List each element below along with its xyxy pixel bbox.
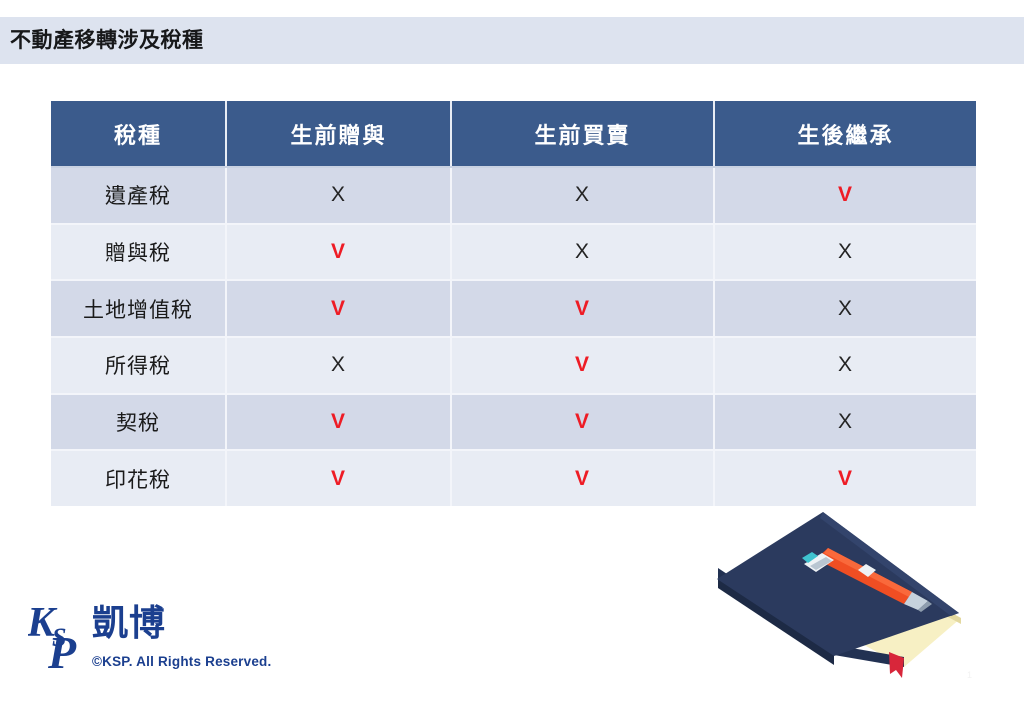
mark-x-icon: X xyxy=(331,183,346,206)
mark-v-icon: V xyxy=(331,467,346,490)
cell-mark: V xyxy=(226,394,451,451)
column-header-lifetime-gift: 生前贈與 xyxy=(226,101,451,167)
mark-v-icon: V xyxy=(331,297,346,320)
title-band: 不動產移轉涉及稅種 xyxy=(0,17,1024,64)
mark-x-icon: X xyxy=(838,297,853,320)
column-header-tax-type: 稅種 xyxy=(51,101,226,167)
copyright-text: ©KSP. All Rights Reserved. xyxy=(92,654,271,669)
column-header-inheritance: 生後繼承 xyxy=(714,101,976,167)
notebook-with-pen-icon xyxy=(706,500,976,690)
mark-v-icon: V xyxy=(575,297,590,320)
row-label-income-tax: 所得稅 xyxy=(51,337,226,394)
tax-comparison-table: 稅種 生前贈與 生前買賣 生後繼承 遺產稅 X X V 贈與稅 V X X 土地… xyxy=(51,101,976,506)
mark-x-icon: X xyxy=(838,240,853,263)
table-row: 遺產稅 X X V xyxy=(51,167,976,224)
brand-name-cn: 凱博 xyxy=(92,606,166,642)
cell-mark: X xyxy=(451,167,714,224)
table-body: 遺產稅 X X V 贈與稅 V X X 土地增值稅 V V X 所得稅 X V xyxy=(51,167,976,506)
row-label-estate-tax: 遺產稅 xyxy=(51,167,226,224)
mark-x-icon: X xyxy=(838,410,853,433)
mark-x-icon: X xyxy=(575,240,590,263)
cell-mark: V xyxy=(451,450,714,506)
mark-v-icon: V xyxy=(575,353,590,376)
table-row: 契稅 V V X xyxy=(51,394,976,451)
page-title: 不動產移轉涉及稅種 xyxy=(10,30,204,51)
cell-mark: V xyxy=(451,280,714,337)
mark-v-icon: V xyxy=(331,410,346,433)
mark-x-icon: X xyxy=(838,353,853,376)
ks-monogram-svg: K P S xyxy=(28,602,90,672)
cell-mark: V xyxy=(451,337,714,394)
slide-canvas: 不動產移轉涉及稅種 稅種 生前贈與 生前買賣 生後繼承 遺產稅 X X V 贈與… xyxy=(0,0,1024,706)
cell-mark: V xyxy=(226,450,451,506)
table-row: 贈與稅 V X X xyxy=(51,224,976,281)
cell-mark: V xyxy=(714,167,976,224)
table-row: 土地增值稅 V V X xyxy=(51,280,976,337)
page-number: 1 xyxy=(967,670,972,680)
company-logo: K P S 凱博 ©KSP. All Rights Reserved. xyxy=(28,600,288,682)
cell-mark: X xyxy=(714,280,976,337)
mark-v-icon: V xyxy=(838,183,853,206)
table-header-row: 稅種 生前贈與 生前買賣 生後繼承 xyxy=(51,101,976,167)
cell-mark: X xyxy=(714,337,976,394)
cell-mark: V xyxy=(714,450,976,506)
cell-mark: X xyxy=(226,167,451,224)
monogram-letter-s: S xyxy=(52,623,66,652)
mark-x-icon: X xyxy=(575,183,590,206)
cell-mark: X xyxy=(226,337,451,394)
cell-mark: X xyxy=(451,224,714,281)
row-label-deed-tax: 契稅 xyxy=(51,394,226,451)
notebook-illustration xyxy=(706,500,976,690)
cell-mark: V xyxy=(226,224,451,281)
cell-mark: X xyxy=(714,394,976,451)
mark-v-icon: V xyxy=(838,467,853,490)
table-row: 所得稅 X V X xyxy=(51,337,976,394)
column-header-lifetime-sale: 生前買賣 xyxy=(451,101,714,167)
mark-v-icon: V xyxy=(575,467,590,490)
table-row: 印花稅 V V V xyxy=(51,450,976,506)
cell-mark: V xyxy=(226,280,451,337)
ks-monogram-icon: K P S xyxy=(28,602,90,672)
mark-v-icon: V xyxy=(575,410,590,433)
cell-mark: X xyxy=(714,224,976,281)
row-label-gift-tax: 贈與稅 xyxy=(51,224,226,281)
row-label-stamp-tax: 印花稅 xyxy=(51,450,226,506)
mark-x-icon: X xyxy=(331,353,346,376)
mark-v-icon: V xyxy=(331,240,346,263)
row-label-land-value-increment-tax: 土地增值稅 xyxy=(51,280,226,337)
cell-mark: V xyxy=(451,394,714,451)
